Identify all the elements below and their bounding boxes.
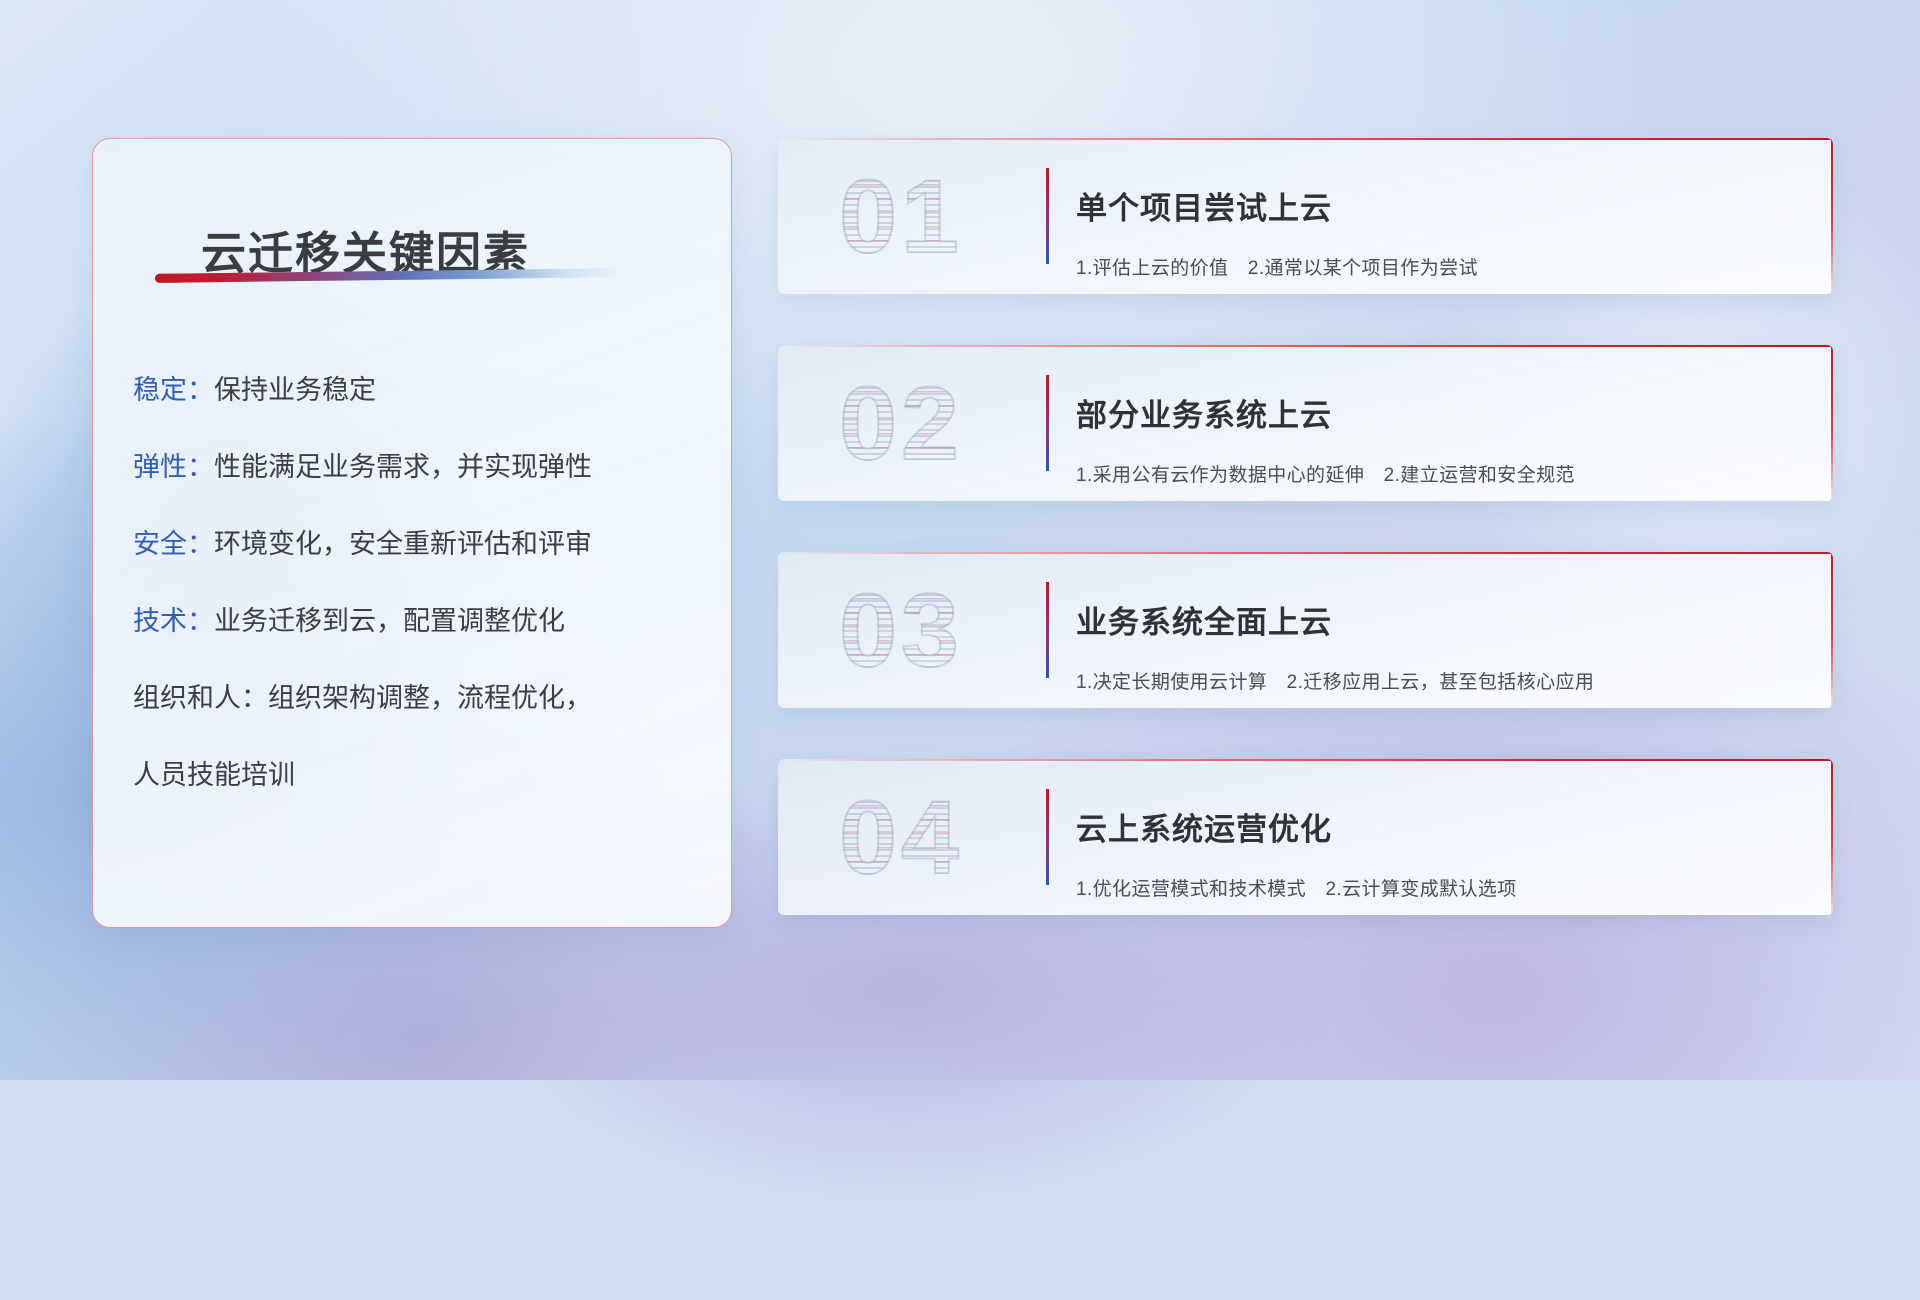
card-right-accent-line: [1831, 759, 1833, 915]
card-title: 业务系统全面上云: [1076, 604, 1809, 641]
factor-item-technology: 技术：业务迁移到云，配置调整优化: [133, 608, 703, 635]
card-top-accent-line: [778, 345, 1833, 347]
card-body: 单个项目尝试上云 1.评估上云的价值 2.通常以某个项目作为尝试: [1076, 164, 1809, 294]
card-title: 单个项目尝试上云: [1076, 190, 1809, 227]
card-description: 1.评估上云的价值 2.通常以某个项目作为尝试: [1076, 253, 1809, 280]
factor-label: 技术：: [133, 606, 214, 636]
stage-card-04[interactable]: 04 04 云上系统运营优化 1.优化运营模式和技术模式 2.云计算变成默认选项: [778, 759, 1833, 915]
factor-text: 业务迁移到云，配置调整优化: [214, 606, 565, 636]
factor-text: 环境变化，安全重新评估和评审: [214, 529, 592, 559]
factor-text: 人员技能培训: [133, 760, 295, 790]
card-right-accent-line: [1831, 345, 1833, 501]
factor-item-stability: 稳定：保持业务稳定: [133, 377, 703, 404]
card-top-accent-line: [778, 138, 1833, 140]
stage-card-02[interactable]: 02 02 部分业务系统上云 1.采用公有云作为数据中心的延伸 2.建立运营和安…: [778, 345, 1833, 501]
card-top-accent-line: [778, 552, 1833, 554]
factor-list: 稳定：保持业务稳定 弹性：性能满足业务需求，并实现弹性 安全：环境变化，安全重新…: [133, 377, 703, 789]
card-divider-bar: [1046, 789, 1049, 885]
card-right-accent-line: [1831, 138, 1833, 294]
card-description: 1.决定长期使用云计算 2.迁移应用上云，甚至包括核心应用: [1076, 667, 1809, 694]
factor-text: 组织架构调整，流程优化，: [268, 683, 592, 713]
slide-stage: 云迁移关键因素 稳定：保持业务稳定 弹性：性能满足业务需求，并实现弹性 安全：环…: [0, 0, 1920, 1080]
factor-item-elasticity: 弹性：性能满足业务需求，并实现弹性: [133, 454, 703, 481]
stage-card-list: 01 01 单个项目尝试上云 1.评估上云的价值 2.通常以某个项目作为尝试 0…: [778, 138, 1833, 915]
card-divider-bar: [1046, 375, 1049, 471]
stage-card-03[interactable]: 03 03 业务系统全面上云 1.决定长期使用云计算 2.迁移应用上云，甚至包括…: [778, 552, 1833, 708]
factor-label: 弹性：: [133, 452, 214, 482]
stage-number-ghost-tint: 02: [806, 363, 996, 485]
card-title: 部分业务系统上云: [1076, 397, 1809, 434]
card-divider-bar: [1046, 582, 1049, 678]
card-divider-bar: [1046, 168, 1049, 264]
card-right-accent-line: [1831, 552, 1833, 708]
card-top-accent-line: [778, 759, 1833, 761]
card-body: 部分业务系统上云 1.采用公有云作为数据中心的延伸 2.建立运营和安全规范: [1076, 371, 1809, 501]
card-body: 云上系统运营优化 1.优化运营模式和技术模式 2.云计算变成默认选项: [1076, 785, 1809, 915]
card-description: 1.采用公有云作为数据中心的延伸 2.建立运营和安全规范: [1076, 460, 1809, 487]
stage-number-ghost-tint: 04: [806, 777, 996, 899]
card-title: 云上系统运营优化: [1076, 811, 1809, 848]
card-body: 业务系统全面上云 1.决定长期使用云计算 2.迁移应用上云，甚至包括核心应用: [1076, 578, 1809, 708]
factor-label: 稳定：: [133, 375, 214, 405]
factor-label: 安全：: [133, 529, 214, 559]
factor-item-organization-continued: 人员技能培训: [133, 762, 703, 789]
factor-text: 保持业务稳定: [214, 375, 376, 405]
stage-number-ghost-tint: 03: [806, 570, 996, 692]
factor-item-security: 安全：环境变化，安全重新评估和评审: [133, 531, 703, 558]
stage-card-01[interactable]: 01 01 单个项目尝试上云 1.评估上云的价值 2.通常以某个项目作为尝试: [778, 138, 1833, 294]
factor-item-organization: 组织和人：组织架构调整，流程优化，: [133, 685, 703, 712]
key-factors-panel: 云迁移关键因素 稳定：保持业务稳定 弹性：性能满足业务需求，并实现弹性 安全：环…: [92, 138, 732, 928]
factor-text: 性能满足业务需求，并实现弹性: [214, 452, 592, 482]
stage-number-ghost-tint: 01: [806, 156, 996, 278]
card-description: 1.优化运营模式和技术模式 2.云计算变成默认选项: [1076, 874, 1809, 901]
factor-label: 组织和人：: [133, 683, 268, 713]
